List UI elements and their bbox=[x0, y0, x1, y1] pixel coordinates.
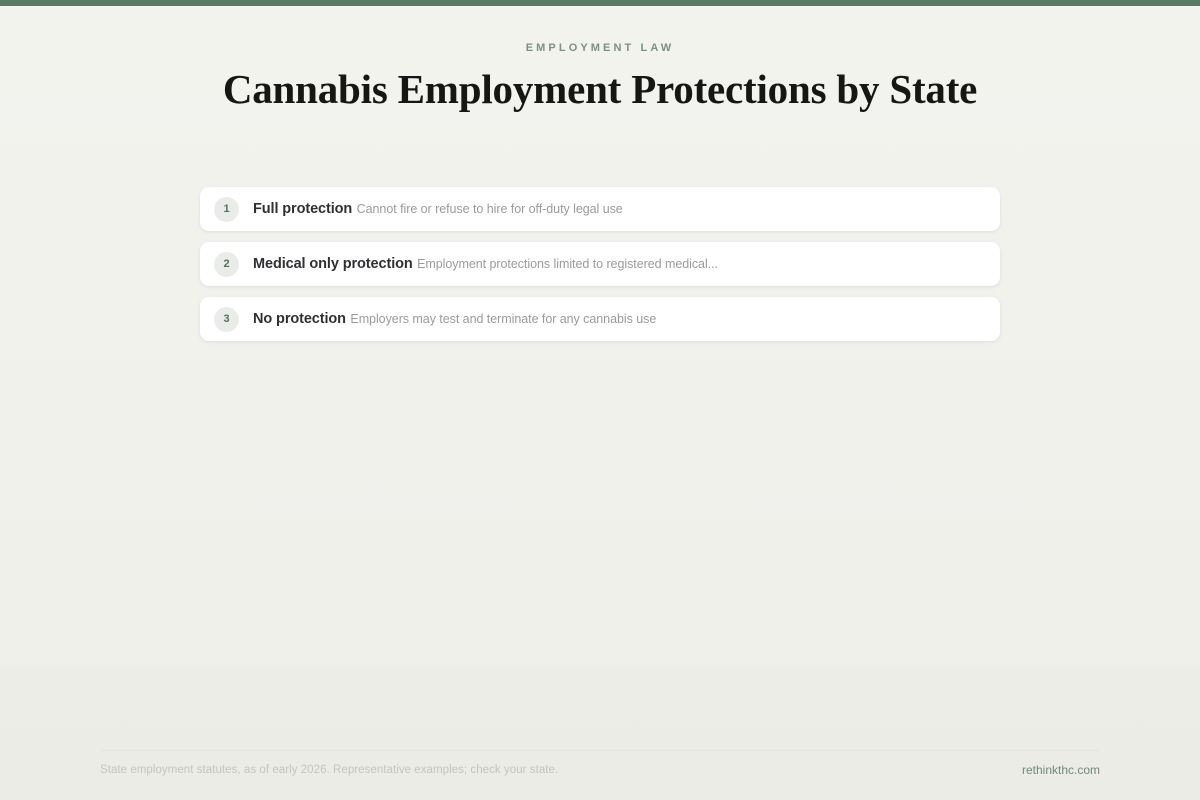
footer-source-note: State employment statutes, as of early 2… bbox=[100, 763, 558, 778]
list-item-title: No protection bbox=[253, 311, 346, 327]
list-item-description: Employers may test and terminate for any… bbox=[350, 312, 656, 326]
list-item-title: Medical only protection bbox=[253, 256, 413, 272]
protection-tier-list: 1 Full protection Cannot fire or refuse … bbox=[200, 187, 1000, 341]
item-number-badge: 3 bbox=[214, 307, 239, 332]
list-item-description: Cannot fire or refuse to hire for off-du… bbox=[357, 202, 623, 216]
list-item-title: Full protection bbox=[253, 201, 352, 217]
page-footer: State employment statutes, as of early 2… bbox=[100, 763, 1100, 778]
list-item[interactable]: 3 No protection Employers may test and t… bbox=[200, 297, 1000, 341]
footer-brand-link[interactable]: rethinkthc.com bbox=[1022, 763, 1100, 778]
list-item[interactable]: 1 Full protection Cannot fire or refuse … bbox=[200, 187, 1000, 231]
footer-divider bbox=[100, 750, 1100, 751]
item-number-badge: 1 bbox=[214, 197, 239, 222]
list-item-text: No protection Employers may test and ter… bbox=[253, 310, 656, 328]
list-item[interactable]: 2 Medical only protection Employment pro… bbox=[200, 242, 1000, 286]
page-title: Cannabis Employment Protections by State bbox=[0, 65, 1200, 113]
list-item-description: Employment protections limited to regist… bbox=[417, 257, 718, 271]
list-item-text: Medical only protection Employment prote… bbox=[253, 255, 718, 273]
top-accent-bar bbox=[0, 0, 1200, 6]
infographic-page: EMPLOYMENT LAW Cannabis Employment Prote… bbox=[0, 0, 1200, 800]
item-number-badge: 2 bbox=[214, 252, 239, 277]
page-header: EMPLOYMENT LAW Cannabis Employment Prote… bbox=[0, 40, 1200, 113]
list-item-text: Full protection Cannot fire or refuse to… bbox=[253, 200, 623, 218]
eyebrow-label: EMPLOYMENT LAW bbox=[0, 40, 1200, 56]
